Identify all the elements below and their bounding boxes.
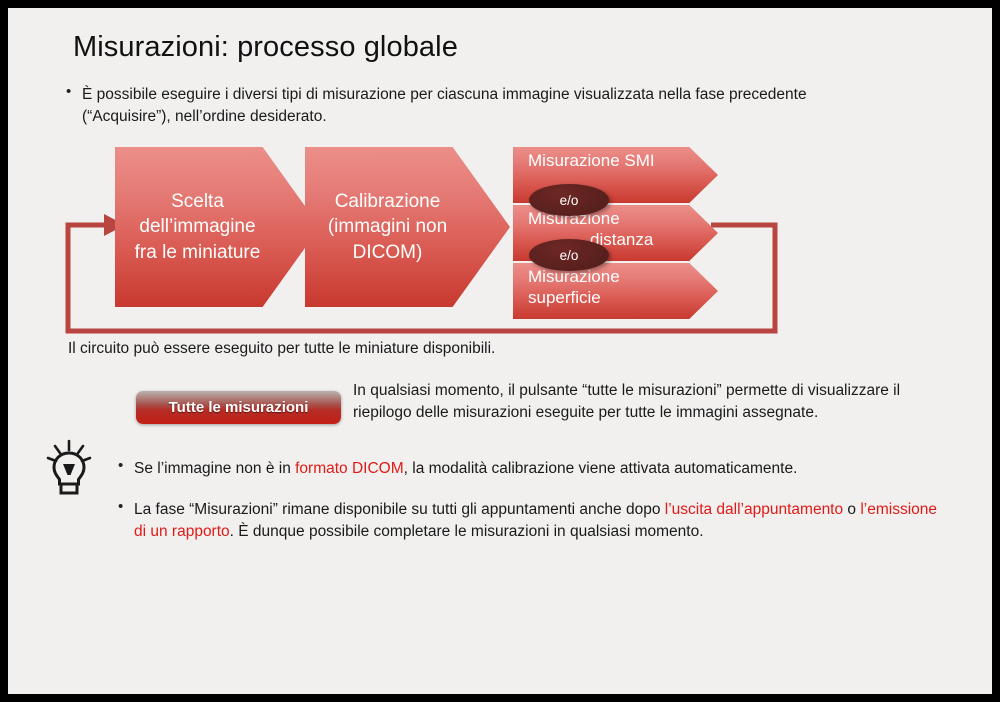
flow-step-scelta-line2: dell’immagine	[115, 214, 280, 239]
connector-eo-2: e/o	[529, 239, 609, 271]
flow-step-calibrazione-line3: DICOM)	[305, 240, 470, 265]
connector-eo-1: e/o	[529, 184, 609, 216]
tip-bullet-2-text: La fase “Misurazioni” rimane disponibile…	[134, 499, 948, 543]
tip-bullet-2: • La fase “Misurazioni” rimane disponibi…	[118, 499, 948, 543]
flow-step-calibrazione-line2: (immagini non	[305, 214, 470, 239]
flow-step-scelta-line1: Scelta	[115, 189, 280, 214]
flow-step-calibrazione-line1: Calibrazione	[305, 189, 470, 214]
button-description: In qualsiasi momento, il pulsante “tutte…	[353, 380, 928, 424]
tip-bullet-1-text: Se l’immagine non è in formato DICOM, la…	[134, 458, 797, 480]
lightbulb-icon	[46, 438, 92, 500]
tutte-le-misurazioni-button[interactable]: Tutte le misurazioni	[136, 391, 341, 424]
bullet-marker: •	[118, 458, 134, 480]
highlighted-text: formato DICOM	[295, 460, 404, 477]
plain-text: o	[843, 501, 860, 518]
plain-text: . È dunque possibile completare le misur…	[230, 523, 704, 540]
flow-measure-superficie: Misurazione superficie	[513, 263, 718, 319]
plain-text: , la modalità calibrazione viene attivat…	[404, 460, 798, 477]
flow-step-scelta-line3: fra le miniature	[115, 240, 280, 265]
plain-text: La fase “Misurazioni” rimane disponibile…	[134, 501, 665, 518]
flow-measure-superficie-line2: superficie	[528, 287, 718, 308]
tip-bullet-1: • Se l’immagine non è in formato DICOM, …	[118, 458, 948, 480]
flow-measure-smi-line1: Misurazione SMI	[528, 151, 655, 170]
loop-caption: Il circuito può essere eseguito per tutt…	[68, 340, 495, 358]
bullet-marker: •	[118, 499, 134, 543]
plain-text: Se l’immagine non è in	[134, 460, 295, 477]
highlighted-text: l’uscita dall’appuntamento	[665, 501, 843, 518]
slide-canvas: Misurazioni: processo globale • È possib…	[8, 8, 992, 694]
